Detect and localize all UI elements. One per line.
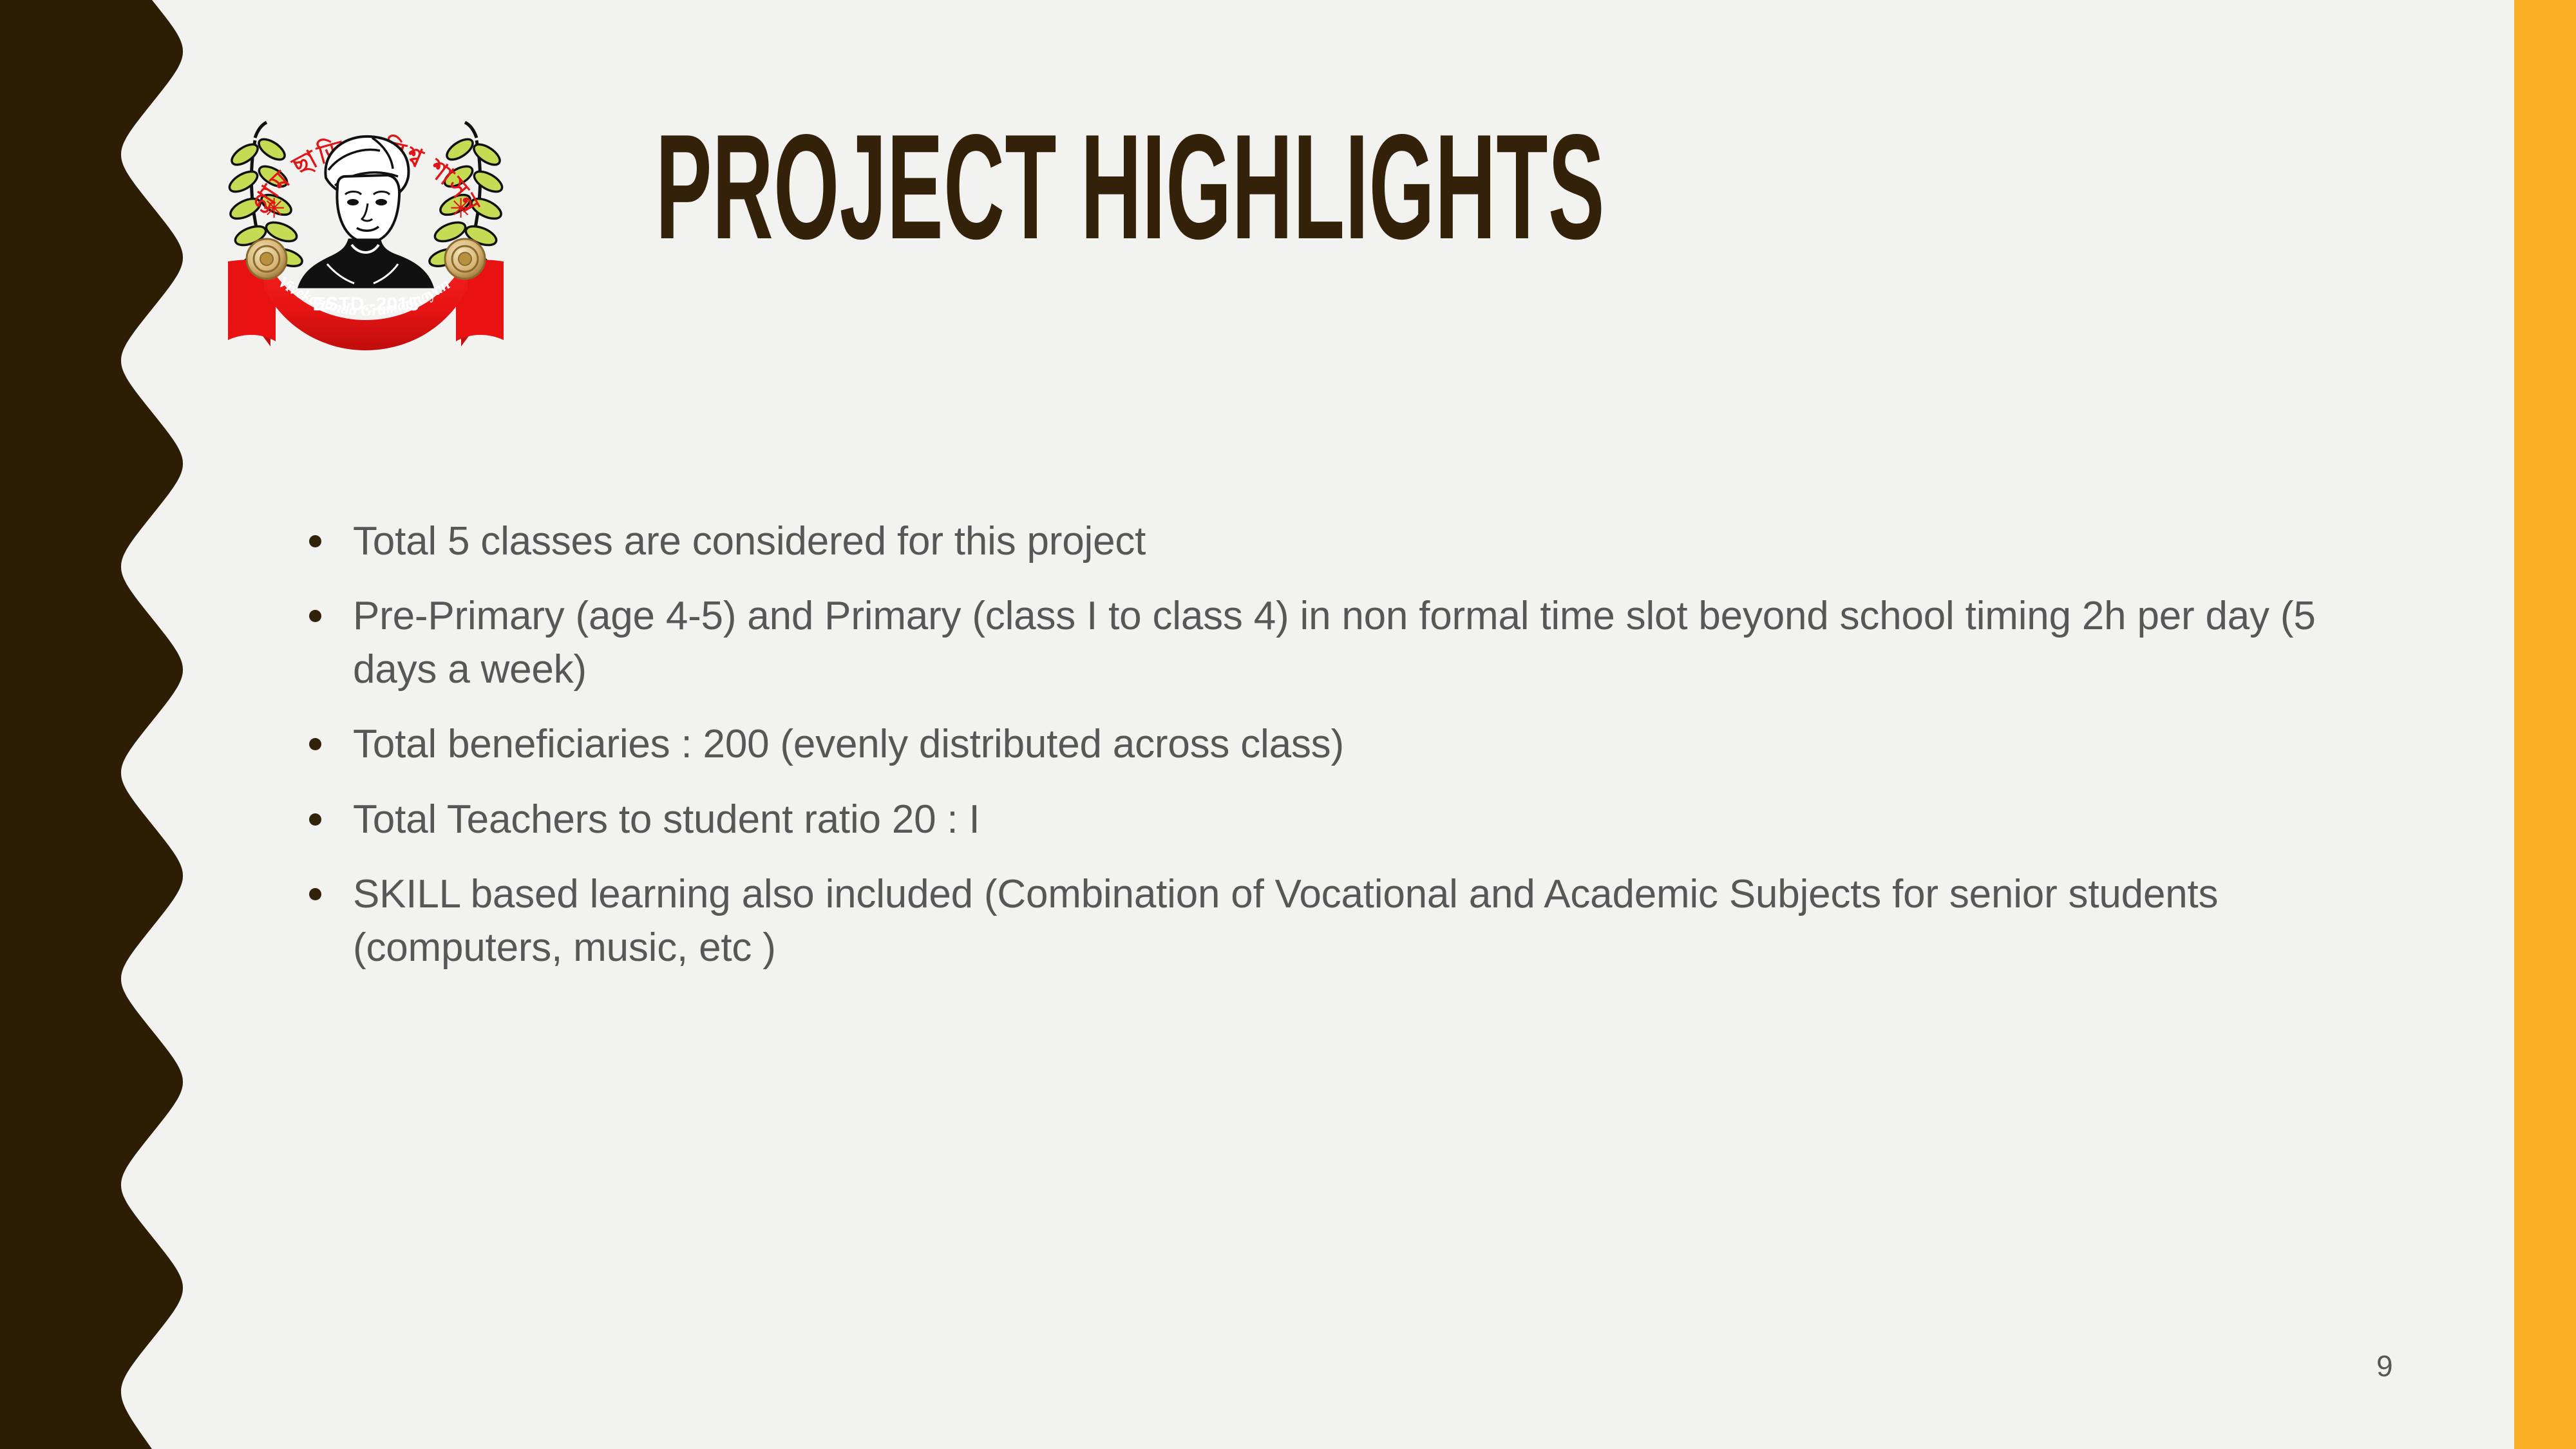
page-number: 9	[2376, 1351, 2393, 1381]
bullet-dot-icon	[309, 813, 321, 826]
slide-canvas: গ্রাম ছাড়িয়ে বিশ্ব শাসন ✳ ✳	[0, 0, 2576, 1449]
bullet-dot-icon	[309, 535, 321, 547]
bullet-dot-icon	[309, 610, 321, 622]
bullet-dot-icon	[309, 738, 321, 750]
list-item-label: Total Teachers to student ratio 20 : I	[353, 793, 2344, 846]
bullet-dot-icon	[309, 888, 321, 900]
left-wave-band	[0, 0, 206, 1449]
logo-star-left: ✳	[263, 193, 285, 223]
list-item-label: SKILL based learning also included (Comb…	[353, 868, 2344, 974]
bullet-list: Total 5 classes are considered for this …	[303, 515, 2344, 974]
list-item: Total Teachers to student ratio 20 : I	[303, 793, 2344, 846]
list-item-label: Total beneficiaries : 200 (evenly distri…	[353, 718, 2344, 771]
logo-star-right: ✳	[450, 193, 472, 223]
page-title: PROJECT HIGHLIGHTS	[656, 113, 1602, 261]
list-item-label: Pre-Primary (age 4-5) and Primary (class…	[353, 590, 2344, 696]
list-item: Pre-Primary (age 4-5) and Primary (class…	[303, 590, 2344, 696]
right-accent-bar	[2514, 0, 2576, 1449]
organization-logo: গ্রাম ছাড়িয়ে বিশ্ব শাসন ✳ ✳	[191, 71, 541, 380]
list-item: Total beneficiaries : 200 (evenly distri…	[303, 718, 2344, 771]
list-item-label: Total 5 classes are considered for this …	[353, 515, 2344, 568]
list-item: Total 5 classes are considered for this …	[303, 515, 2344, 568]
list-item: SKILL based learning also included (Comb…	[303, 868, 2344, 974]
